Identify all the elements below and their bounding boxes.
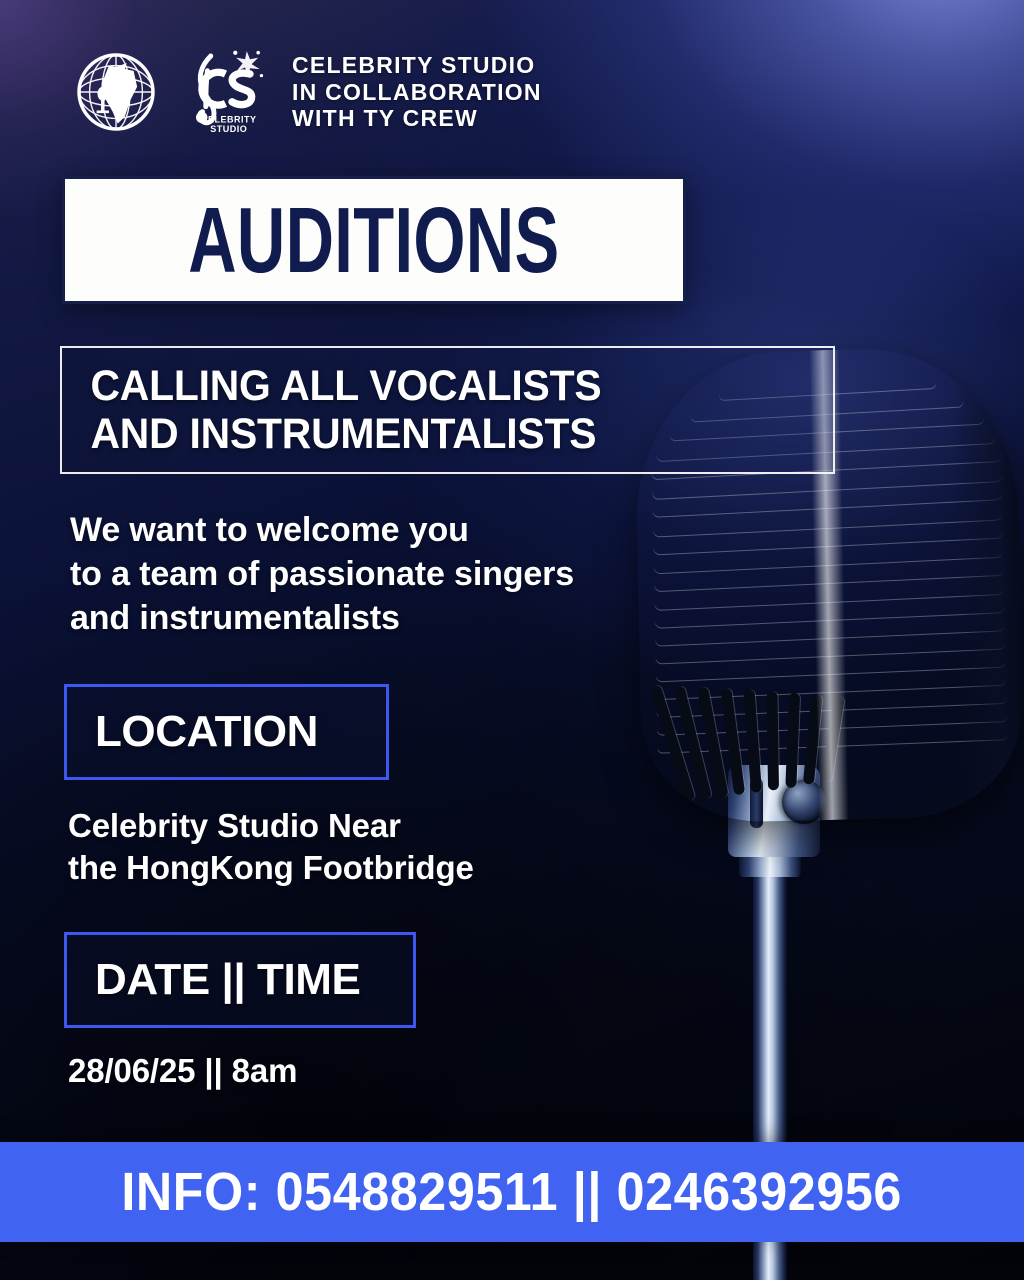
brand-header: CELEBRITY STUDIO CELEBRITY STUDIO IN COL… — [72, 46, 542, 138]
datetime-label: DATE || TIME — [67, 955, 360, 1005]
body-line-1: We want to welcome you — [70, 508, 690, 552]
brand-line-1: CELEBRITY STUDIO — [292, 52, 542, 79]
location-detail: Celebrity Studio Near the HongKong Footb… — [68, 805, 688, 889]
headline-line-2: AND INSTRUMENTALISTS — [91, 410, 602, 458]
microphone-grille-fan-slat — [766, 691, 779, 790]
datetime-label-box: DATE || TIME — [64, 932, 416, 1028]
brand-line-3: WITH TY CREW — [292, 105, 542, 132]
microphone-shadow-edge — [950, 346, 1024, 817]
body-copy: We want to welcome you to a team of pass… — [70, 508, 690, 641]
globe-africa-microphone-icon — [72, 48, 160, 136]
datetime-value: 28/06/25 || 8am — [68, 1050, 628, 1092]
brand-header-text: CELEBRITY STUDIO IN COLLABORATION WITH T… — [292, 52, 542, 132]
brand-line-2: IN COLLABORATION — [292, 79, 542, 106]
body-line-2: to a team of passionate singers — [70, 552, 690, 596]
info-footer-bar: INFO: 0548829511 || 0246392956 — [0, 1142, 1024, 1242]
cs-logo-caption-line1: CELEBRITY — [201, 114, 256, 124]
location-line-1: Celebrity Studio Near — [68, 805, 688, 847]
location-line-2: the HongKong Footbridge — [68, 847, 688, 889]
poster-canvas: CELEBRITY STUDIO CELEBRITY STUDIO IN COL… — [0, 0, 1024, 1280]
location-label-box: LOCATION — [64, 684, 389, 780]
microphone-grille-fan-slat — [785, 693, 800, 788]
headline-box: CALLING ALL VOCALISTS AND INSTRUMENTALIS… — [60, 346, 835, 474]
headline-text: CALLING ALL VOCALISTS AND INSTRUMENTALIS… — [62, 362, 601, 458]
auditions-title: AUDITIONS — [188, 194, 559, 287]
auditions-banner: AUDITIONS — [62, 176, 686, 304]
location-label: LOCATION — [67, 707, 318, 757]
body-line-3: and instrumentalists — [70, 596, 690, 640]
info-phone-numbers: INFO: 0548829511 || 0246392956 — [122, 1161, 903, 1223]
celebrity-studio-treble-clef-icon: CELEBRITY STUDIO — [178, 46, 268, 138]
cs-logo-caption-line2: STUDIO — [210, 124, 247, 134]
headline-line-1: CALLING ALL VOCALISTS — [91, 362, 602, 410]
datetime-detail: 28/06/25 || 8am — [68, 1050, 628, 1092]
